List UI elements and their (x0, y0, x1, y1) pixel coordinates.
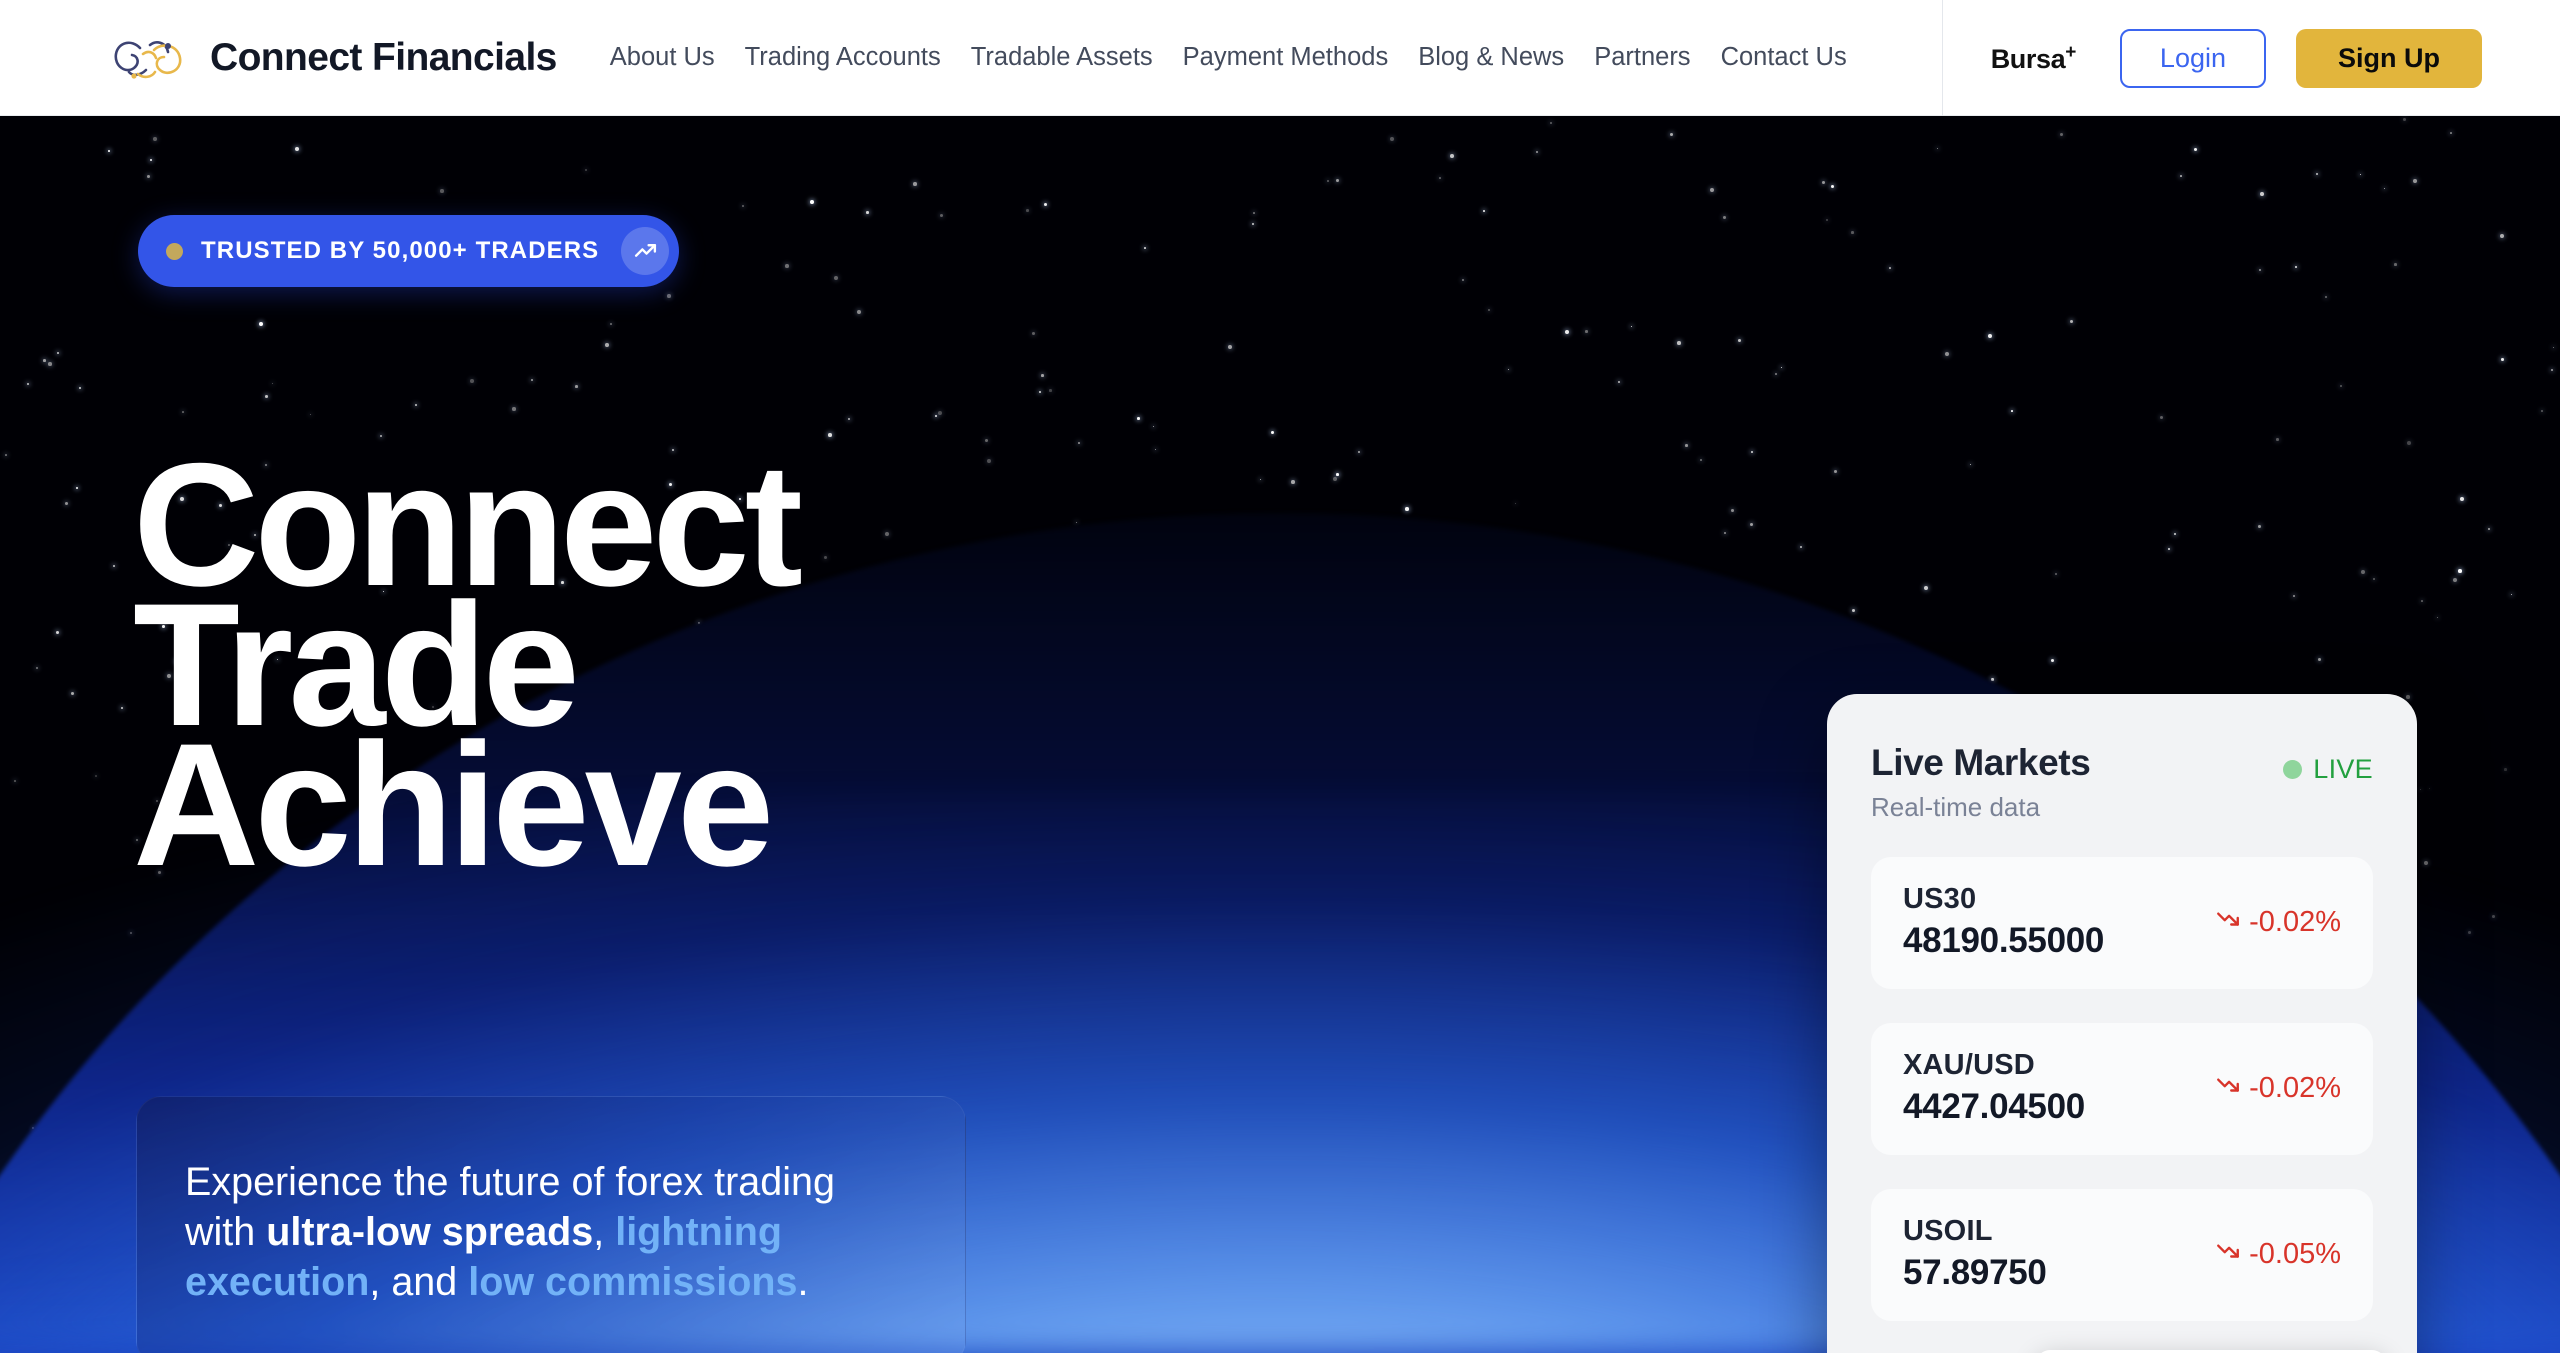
para-part-2: , (593, 1210, 615, 1254)
trend-down-icon (2215, 1237, 2241, 1271)
main-navigation: About Us Trading Accounts Tradable Asset… (595, 45, 1862, 71)
quote-change-value: -0.05% (2249, 1238, 2341, 1271)
live-status-badge: LIVE (2283, 754, 2373, 785)
market-quote-row[interactable]: US30 48190.55000 -0.02% (1871, 857, 2373, 989)
trend-down-icon (2215, 905, 2241, 939)
signup-button[interactable]: Sign Up (2296, 29, 2482, 88)
nav-item-payment-methods[interactable]: Payment Methods (1168, 45, 1404, 71)
quote-info: US30 48190.55000 (1903, 883, 2104, 961)
infinity-swirl-logo-icon (110, 34, 196, 82)
nav-item-partners[interactable]: Partners (1579, 45, 1705, 71)
hero-headline: Connect Trade Achieve (133, 456, 798, 876)
header-actions: Bursa+ Login Sign Up (1942, 0, 2560, 116)
para-part-4: . (797, 1260, 808, 1304)
live-markets-subtitle: Real-time data (1871, 792, 2090, 823)
trusted-traders-badge[interactable]: TRUSTED BY 50,000+ TRADERS (138, 215, 679, 287)
nav-item-contact-us[interactable]: Contact Us (1706, 45, 1862, 71)
quote-symbol: XAU/USD (1903, 1049, 2085, 1082)
nav-item-tradable-assets[interactable]: Tradable Assets (956, 45, 1168, 71)
nav-item-trading-accounts[interactable]: Trading Accounts (730, 45, 956, 71)
market-quote-row[interactable]: USOIL 57.89750 -0.05% (1871, 1189, 2373, 1321)
live-markets-titles: Live Markets Real-time data (1871, 742, 2090, 823)
badge-dot-icon (166, 243, 183, 260)
nav-item-blog-news[interactable]: Blog & News (1403, 45, 1579, 71)
live-dot-icon (2283, 760, 2302, 779)
login-button[interactable]: Login (2120, 29, 2266, 88)
live-markets-header: Live Markets Real-time data LIVE (1871, 742, 2373, 823)
quote-change: -0.02% (2215, 905, 2341, 939)
site-header: Connect Financials About Us Trading Acco… (0, 0, 2560, 116)
quote-price: 48190.55000 (1903, 921, 2104, 961)
quote-change: -0.05% (2215, 1237, 2341, 1271)
trending-up-icon (621, 227, 669, 275)
bursa-plus: + (2065, 42, 2076, 63)
quote-price: 57.89750 (1903, 1253, 2047, 1293)
headline-line-3: Achieve (133, 736, 798, 876)
quote-info: USOIL 57.89750 (1903, 1215, 2047, 1293)
brand-name: Connect Financials (210, 36, 557, 80)
live-markets-title: Live Markets (1871, 742, 2090, 784)
quote-change: -0.02% (2215, 1071, 2341, 1105)
nav-item-about-us[interactable]: About Us (595, 45, 730, 71)
hero-paragraph: Experience the future of forex trading w… (185, 1157, 915, 1307)
hero-section: TRUSTED BY 50,000+ TRADERS Connect Trade… (0, 116, 2560, 1353)
quote-info: XAU/USD 4427.04500 (1903, 1049, 2085, 1127)
quote-symbol: US30 (1903, 883, 2104, 916)
quote-price: 4427.04500 (1903, 1087, 2085, 1127)
badge-label: TRUSTED BY 50,000+ TRADERS (201, 237, 599, 265)
hero-description-card: Experience the future of forex trading w… (136, 1096, 966, 1353)
para-bold-spreads: ultra-low spreads (266, 1210, 593, 1254)
header-divider (1942, 0, 1943, 116)
bursa-label: Bursa (1991, 44, 2066, 74)
quote-change-value: -0.02% (2249, 906, 2341, 939)
para-part-3: , and (369, 1260, 468, 1304)
para-highlight-commissions: low commissions (468, 1260, 797, 1304)
brand-logo-link[interactable]: Connect Financials (110, 34, 557, 82)
quote-symbol: USOIL (1903, 1215, 2047, 1248)
trend-down-icon (2215, 1071, 2241, 1105)
live-label: LIVE (2313, 754, 2373, 785)
market-quote-row[interactable]: XAU/USD 4427.04500 -0.02% (1871, 1023, 2373, 1155)
live-markets-card: Live Markets Real-time data LIVE US30 48… (1827, 694, 2417, 1353)
quote-change-value: -0.02% (2249, 1072, 2341, 1105)
bursa-partner-logo[interactable]: Bursa+ (1991, 42, 2076, 75)
